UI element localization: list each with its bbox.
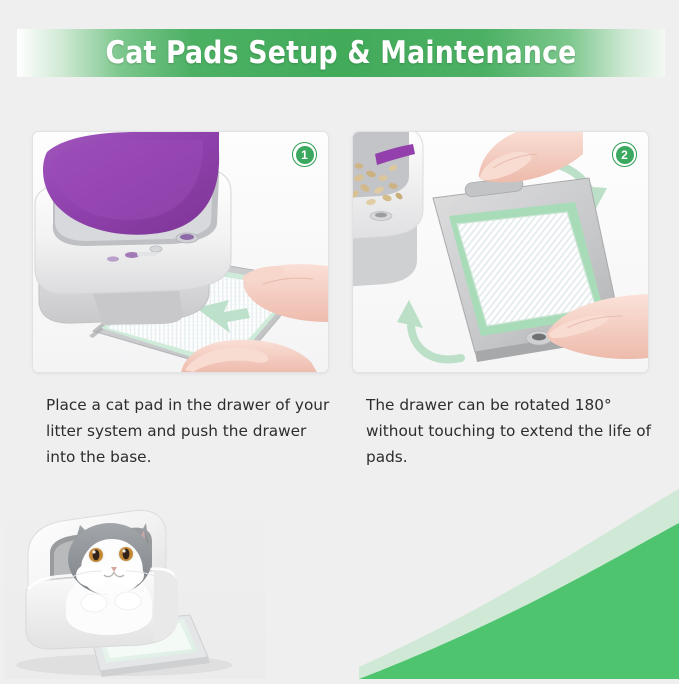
hero-product-photo: [4, 497, 266, 679]
step-1-photo: [33, 132, 328, 372]
header-banner: Cat Pads Setup & Maintenance: [17, 29, 665, 77]
step-caption-1: Place a cat pad in the drawer of your li…: [46, 392, 336, 470]
step-panel-2: 2: [352, 131, 649, 373]
step-panel-1: 1: [32, 131, 329, 373]
litter-box-2: [353, 132, 423, 287]
swoosh-shapes: [359, 489, 679, 679]
step-badge-1: 1: [292, 142, 317, 167]
step-1-illustration: [33, 132, 328, 372]
step-badge-2-number: 2: [616, 146, 634, 164]
page-title: Cat Pads Setup & Maintenance: [30, 29, 652, 77]
litter-box-1: [35, 132, 231, 325]
step-caption-2: The drawer can be rotated 180° without t…: [366, 392, 656, 470]
step-badge-1-number: 1: [296, 146, 314, 164]
cat: [66, 523, 156, 635]
step-badge-2: 2: [612, 142, 637, 167]
step-2-illustration: [353, 132, 648, 372]
cat-in-litterbox-illustration: [4, 497, 266, 679]
step-2-photo: [353, 132, 648, 372]
corner-swoosh-decoration: [359, 489, 679, 679]
